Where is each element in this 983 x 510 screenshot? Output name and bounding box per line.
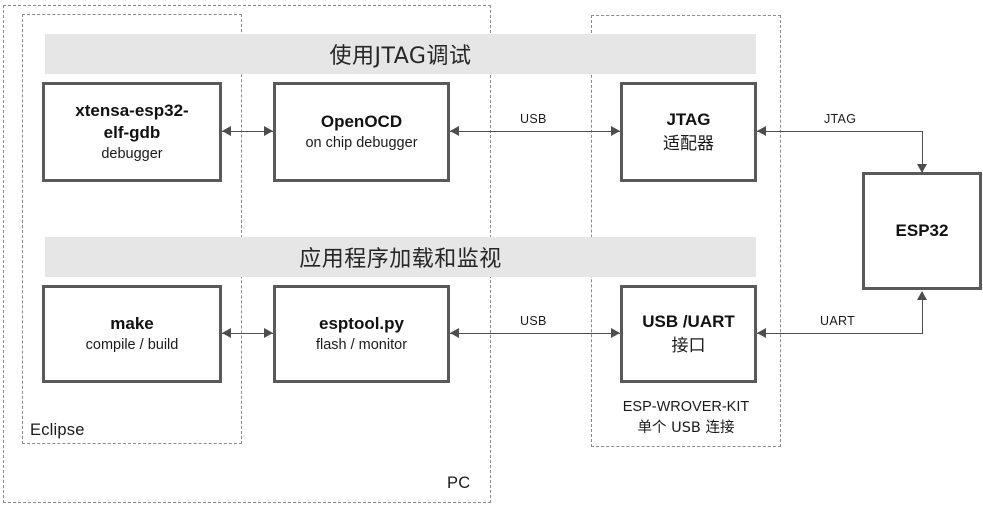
esp-wrover-kit-caption-line2: 单个 USB 连接 bbox=[591, 418, 781, 439]
connector-make-esptool-arrow-left bbox=[222, 328, 231, 338]
box-usb-uart[interactable]: USB /UART 接口 bbox=[620, 285, 757, 383]
region-eclipse-label: Eclipse bbox=[30, 421, 85, 440]
connector-jtag-esp32-arrow-left bbox=[757, 126, 766, 136]
box-esp32-title: ESP32 bbox=[896, 220, 949, 241]
box-esptool-subtitle: flash / monitor bbox=[316, 336, 407, 355]
box-make[interactable]: make compile / build bbox=[42, 285, 222, 383]
connector-gdb-openocd-arrow-right bbox=[264, 126, 273, 136]
connector-openocd-jtag-label: USB bbox=[520, 112, 547, 126]
connector-esptool-usbuart bbox=[450, 333, 620, 334]
box-usb-uart-subtitle: 接口 bbox=[672, 335, 706, 357]
box-xtensa-esp32-elf-gdb[interactable]: xtensa-esp32- elf-gdb debugger bbox=[42, 82, 222, 182]
banner-jtag-debug-label: 使用JTAG调试 bbox=[330, 38, 472, 70]
connector-gdb-openocd-arrow-left bbox=[222, 126, 231, 136]
connector-usbuart-esp32-horizontal bbox=[757, 333, 923, 334]
esp-wrover-kit-caption: ESP-WROVER-KIT 单个 USB 连接 bbox=[591, 397, 781, 439]
banner-app-load-monitor: 应用程序加载和监视 bbox=[45, 237, 756, 277]
box-gdb-subtitle: debugger bbox=[101, 145, 162, 164]
box-jtag-adapter[interactable]: JTAG 适配器 bbox=[620, 82, 757, 182]
box-gdb-title: xtensa-esp32- elf-gdb bbox=[75, 100, 188, 143]
connector-jtag-esp32-label: JTAG bbox=[824, 112, 856, 126]
connector-usbuart-esp32-arrow-up bbox=[917, 291, 927, 300]
connector-jtag-esp32-arrow-down bbox=[917, 164, 927, 173]
box-make-title: make bbox=[110, 313, 153, 334]
connector-usbuart-esp32-label: UART bbox=[820, 314, 855, 328]
esp-wrover-kit-caption-line1: ESP-WROVER-KIT bbox=[591, 397, 781, 418]
region-pc-label: PC bbox=[447, 474, 470, 493]
box-esp32[interactable]: ESP32 bbox=[862, 172, 982, 290]
box-jtag-title: JTAG bbox=[666, 109, 710, 130]
box-make-subtitle: compile / build bbox=[86, 336, 179, 355]
connector-esptool-usbuart-arrow-right bbox=[611, 328, 620, 338]
box-usb-uart-title: USB /UART bbox=[642, 311, 735, 332]
connector-usbuart-esp32-arrow-left bbox=[757, 328, 766, 338]
connector-esptool-usbuart-arrow-left bbox=[450, 328, 459, 338]
box-openocd-subtitle: on chip debugger bbox=[305, 134, 417, 153]
diagram-canvas: PC Eclipse 使用JTAG调试 应用程序加载和监视 xtensa-esp… bbox=[0, 0, 983, 510]
connector-jtag-esp32-horizontal bbox=[757, 131, 923, 132]
connector-openocd-jtag-arrow-right bbox=[611, 126, 620, 136]
banner-jtag-debug: 使用JTAG调试 bbox=[45, 34, 756, 74]
connector-make-esptool-arrow-right bbox=[264, 328, 273, 338]
box-openocd[interactable]: OpenOCD on chip debugger bbox=[273, 82, 450, 182]
box-openocd-title: OpenOCD bbox=[321, 111, 402, 132]
box-jtag-subtitle: 适配器 bbox=[663, 133, 714, 155]
connector-openocd-jtag-arrow-left bbox=[450, 126, 459, 136]
box-esptool[interactable]: esptool.py flash / monitor bbox=[273, 285, 450, 383]
banner-app-load-monitor-label: 应用程序加载和监视 bbox=[299, 241, 502, 273]
connector-esptool-usbuart-label: USB bbox=[520, 314, 547, 328]
box-esptool-title: esptool.py bbox=[319, 313, 404, 334]
connector-openocd-jtag bbox=[450, 131, 620, 132]
